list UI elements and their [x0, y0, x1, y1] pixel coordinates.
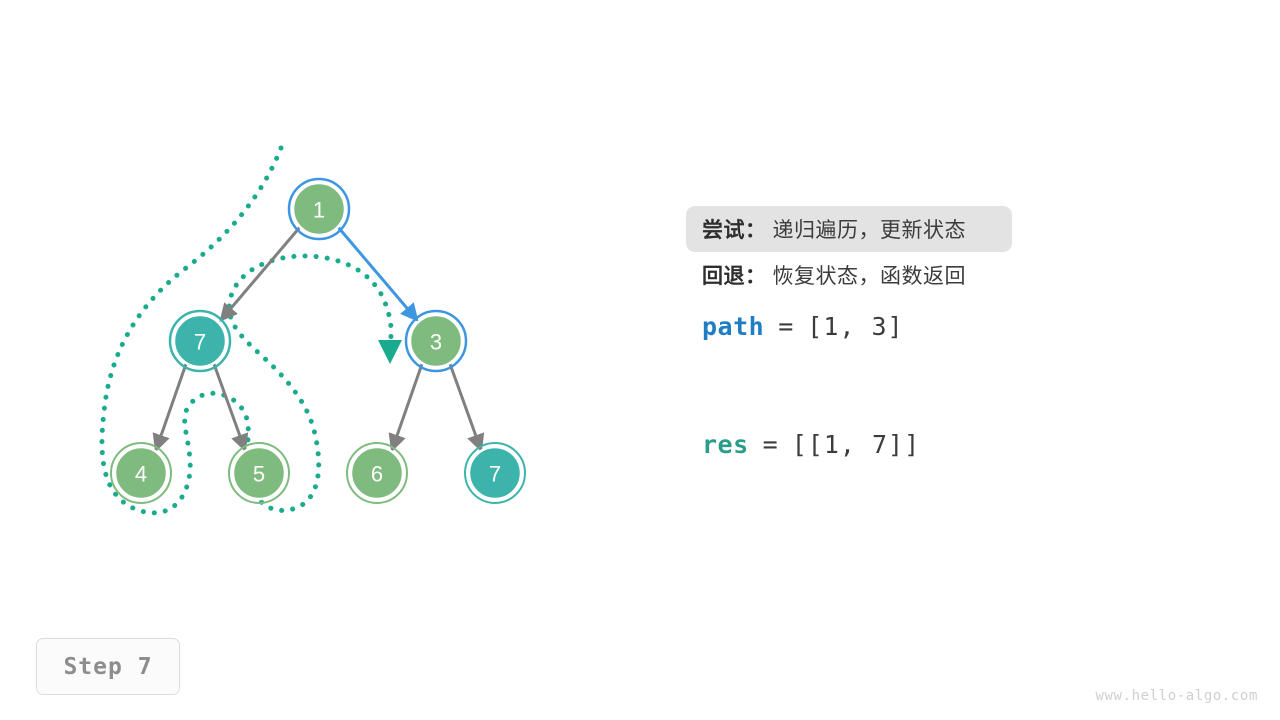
code-var-path: path — [702, 312, 764, 341]
diagram-canvas: 1 7 3 4 5 6 7 — [0, 0, 1280, 720]
tree-node-6[interactable]: 6 — [347, 443, 407, 503]
hint-backtrack-key: 回退： — [702, 260, 767, 290]
hint-try-value: 递归遍历，更新状态 — [773, 214, 967, 244]
tree-node-3[interactable]: 3 — [406, 311, 466, 371]
tree-node-7-left[interactable]: 7 — [170, 311, 230, 371]
tree-node-1[interactable]: 1 — [289, 179, 349, 239]
tree-node-7-right[interactable]: 7 — [465, 443, 525, 503]
code-value-path: [1, 3] — [807, 312, 903, 341]
tree-node-7-left-label: 7 — [194, 330, 206, 355]
tree-node-4[interactable]: 4 — [111, 443, 171, 503]
code-row-path: path = [1, 3] — [686, 312, 1226, 360]
tree-node-6-label: 6 — [371, 462, 383, 487]
code-eq-res: = — [763, 430, 778, 459]
watermark: www.hello-algo.com — [1095, 688, 1258, 704]
step-badge: Step 7 — [36, 638, 180, 695]
tree-node-1-label: 1 — [313, 198, 325, 223]
hint-row-try: 尝试： 递归遍历，更新状态 — [686, 206, 1012, 252]
code-eq-path: = — [778, 312, 793, 341]
tree-node-5-label: 5 — [253, 462, 265, 487]
code-var-res: res — [702, 430, 749, 459]
tree-node-4-label: 4 — [135, 462, 147, 487]
hint-backtrack-value: 恢复状态，函数返回 — [773, 260, 967, 290]
code-row-res: res = [[1, 7]] — [686, 430, 1226, 478]
trail-arrowhead — [378, 340, 402, 364]
binary-tree-diagram: 1 7 3 4 5 6 7 — [0, 0, 660, 620]
info-panel: 尝试： 递归遍历，更新状态 回退： 恢复状态，函数返回 path = [1, 3… — [686, 206, 1226, 478]
hint-try-key: 尝试： — [702, 214, 767, 244]
tree-node-5[interactable]: 5 — [229, 443, 289, 503]
tree-node-7-right-label: 7 — [489, 462, 501, 487]
code-value-res: [[1, 7]] — [792, 430, 920, 459]
hint-row-backtrack: 回退： 恢复状态，函数返回 — [686, 252, 1012, 298]
tree-node-3-label: 3 — [430, 330, 442, 355]
